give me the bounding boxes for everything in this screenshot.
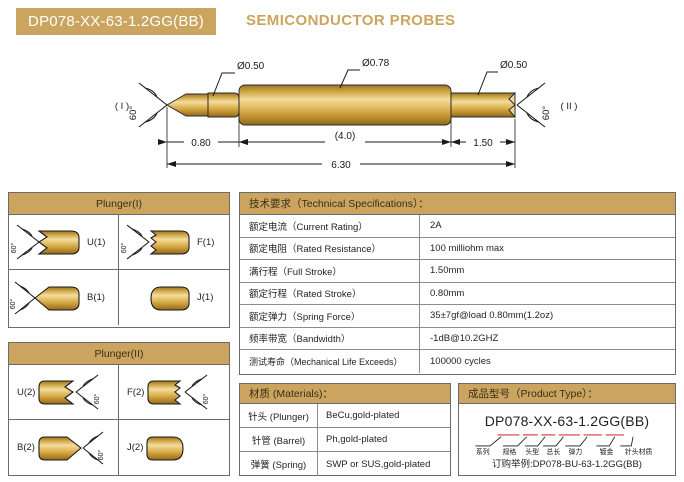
view-label-right: ( II ) <box>561 101 578 112</box>
plunger-option-f1-shape <box>151 231 189 254</box>
plunger-option-j1-label: J(1) <box>197 292 213 303</box>
plunger-option-f2-shape <box>148 381 180 404</box>
plunger-option-b1-angle: 60° <box>9 298 17 309</box>
product-order-example: 订购举例:DP078-BU-63-1.2GG(BB) <box>459 456 675 470</box>
view-label-left: ( I ) <box>115 101 129 112</box>
spec-row: 额定弹力（Spring Force） 35±7gf@load 0.80mm(1.… <box>240 305 675 328</box>
legend-label-3: 总长 <box>546 447 560 456</box>
spec-value: 100000 cycles <box>420 350 675 373</box>
spec-value: 1.50mm <box>420 260 675 282</box>
spec-key: 额定弹力（Spring Force） <box>240 305 420 327</box>
plunger-option-u2-shape <box>39 381 73 404</box>
plunger-option-f1-label: F(1) <box>197 237 214 248</box>
legend-label-2: 头型 <box>525 447 539 456</box>
plunger-option-u1[interactable]: 60° U(1) <box>9 215 119 270</box>
material-value: Ph,gold-plated <box>318 428 450 451</box>
plunger-option-f2-label: F(2) <box>127 387 144 398</box>
dim-total-label: 6.30 <box>331 160 351 171</box>
materials-panel: 材质 (Materials)： 针头 (Plunger) BeCu,gold-p… <box>239 383 451 476</box>
spec-key: 额定电阻（Rated Resistance） <box>240 238 420 260</box>
plunger-option-j1[interactable]: J(1) <box>119 270 229 325</box>
spec-key: 满行程（Full Stroke） <box>240 260 420 282</box>
plunger-option-f2-angle: 60° <box>202 394 210 405</box>
barrel-shape <box>239 85 451 125</box>
legend-leaders <box>475 437 633 446</box>
plunger-option-f1[interactable]: 60° F(1) <box>119 215 229 270</box>
plunger2-title: Plunger(II) <box>9 343 229 365</box>
plunger-option-b1[interactable]: 60° B(1) <box>9 270 119 325</box>
spec-value: 35±7gf@load 0.80mm(1.2oz) <box>420 305 675 327</box>
plunger-option-b1-shape <box>35 287 79 310</box>
spec-value: -1dB@10.2GHZ <box>420 328 675 350</box>
product-code: DP078-XX-63-1.2GG(BB) <box>459 413 675 429</box>
spec-value: 0.80mm <box>420 283 675 305</box>
materials-title: 材质 (Materials)： <box>240 384 450 404</box>
plunger-option-u1-label: U(1) <box>87 237 105 248</box>
angle-label-left: 60° <box>128 106 139 121</box>
legend-label-5: 镀金 <box>600 447 614 456</box>
spec-key: 额定电流（Current Rating） <box>240 215 420 237</box>
plunger1-tip-shape <box>167 94 208 116</box>
plunger1-shaft-shape <box>208 93 239 117</box>
angle-marks-left <box>139 83 167 127</box>
plunger-option-u2-label: U(2) <box>17 387 35 398</box>
page-title: SEMICONDUCTOR PROBES <box>246 12 455 29</box>
dim-barrel-label: (4.0) <box>335 131 356 142</box>
material-key: 针管 (Barrel) <box>240 428 318 451</box>
spec-row: 满行程（Full Stroke） 1.50mm <box>240 260 675 283</box>
plunger-option-f2[interactable]: F(2) 60° <box>119 365 229 420</box>
plunger-option-u2[interactable]: U(2) 60° <box>9 365 119 420</box>
spec-row: 额定电流（Current Rating） 2A <box>240 215 675 238</box>
plunger1-panel: Plunger(I) 60° U(1) <box>8 192 230 328</box>
product-type-panel: 成品型号（Product Type）： DP078-XX-63-1.2GG(BB… <box>458 383 676 476</box>
spec-row: 测试寿命（Mechanical Life Exceeds） 100000 cyc… <box>240 350 675 373</box>
spec-row: 额定行程（Rated Stroke） 0.80mm <box>240 283 675 306</box>
plunger-option-b2-shape <box>39 437 81 460</box>
plunger-option-f1-angle: 60° <box>120 243 128 254</box>
plunger-option-u1-shape <box>39 231 79 254</box>
technical-specifications-panel: 技术要求（Technical Specifications）： 额定电流（Cur… <box>239 192 676 375</box>
dia-plunger1-label: Ø0.50 <box>237 61 265 72</box>
plunger2-shaft-shape <box>451 93 515 117</box>
legend-label-0: 系列 <box>476 447 490 456</box>
plunger2-panel: Plunger(II) U(2) 60° F(2) <box>8 342 230 476</box>
spec-value: 100 milliohm max <box>420 238 675 260</box>
plunger-option-b2[interactable]: B(2) 60° <box>9 420 119 475</box>
probe-technical-drawing: 60° ( I ) 60° ( II ) Ø0.50 Ø0.78 Ø0.50 <box>0 44 684 182</box>
product-code-legend: 系列 规格 头型 总长 弹力 镀金 针头材质 <box>459 434 677 456</box>
material-row: 弹簧 (Spring) SWP or SUS,gold-plated <box>240 452 450 476</box>
legend-label-1: 规格 <box>502 447 516 456</box>
plunger-option-b2-angle: 60° <box>97 449 105 460</box>
material-value: SWP or SUS,gold-plated <box>318 452 450 476</box>
product-title: 成品型号（Product Type）： <box>459 384 675 404</box>
plunger-option-u2-angle: 60° <box>93 394 101 405</box>
model-badge: DP078-XX-63-1.2GG(BB) <box>16 8 216 35</box>
spec-key: 测试寿命（Mechanical Life Exceeds） <box>240 350 420 373</box>
plunger-option-j2[interactable]: J(2) <box>119 420 229 475</box>
plunger-option-b1-label: B(1) <box>87 292 105 303</box>
angle-label-right: 60° <box>541 106 552 121</box>
material-key: 弹簧 (Spring) <box>240 452 318 476</box>
legend-label-4: 弹力 <box>568 447 582 456</box>
dia-barrel-label: Ø0.78 <box>362 58 390 69</box>
material-row: 针管 (Barrel) Ph,gold-plated <box>240 428 450 452</box>
material-row: 针头 (Plunger) BeCu,gold-plated <box>240 404 450 428</box>
dim-stroke-label: 0.80 <box>191 138 211 149</box>
plunger2-grid: U(2) 60° F(2) <box>9 365 229 475</box>
spec-value: 2A <box>420 215 675 237</box>
plunger1-title: Plunger(I) <box>9 193 229 215</box>
spec-row: 频率带宽（Bandwidth） -1dB@10.2GHZ <box>240 328 675 351</box>
legend-label-6: 针头材质 <box>625 447 653 456</box>
plunger-option-b2-label: B(2) <box>17 442 35 453</box>
plunger-option-j2-shape <box>147 437 183 460</box>
plunger-option-j1-shape <box>151 287 189 310</box>
dim-tail-label: 1.50 <box>473 138 493 149</box>
spec-key: 额定行程（Rated Stroke） <box>240 283 420 305</box>
material-key: 针头 (Plunger) <box>240 404 318 427</box>
spec-key: 频率带宽（Bandwidth） <box>240 328 420 350</box>
dia-plunger2-label: Ø0.50 <box>500 60 528 71</box>
datasheet-page: DP078-XX-63-1.2GG(BB) SEMICONDUCTOR PROB… <box>0 0 684 482</box>
spec-row: 额定电阻（Rated Resistance） 100 milliohm max <box>240 238 675 261</box>
material-value: BeCu,gold-plated <box>318 404 450 427</box>
plunger-option-j2-label: J(2) <box>127 442 143 453</box>
page-header: DP078-XX-63-1.2GG(BB) SEMICONDUCTOR PROB… <box>0 0 684 42</box>
plunger1-grid: 60° U(1) 60° F(1) <box>9 215 229 325</box>
spec-title: 技术要求（Technical Specifications）： <box>240 193 675 215</box>
model-badge-text: DP078-XX-63-1.2GG(BB) <box>28 13 204 30</box>
product-body: DP078-XX-63-1.2GG(BB) <box>459 404 675 476</box>
plunger-option-u1-angle: 60° <box>10 243 18 254</box>
